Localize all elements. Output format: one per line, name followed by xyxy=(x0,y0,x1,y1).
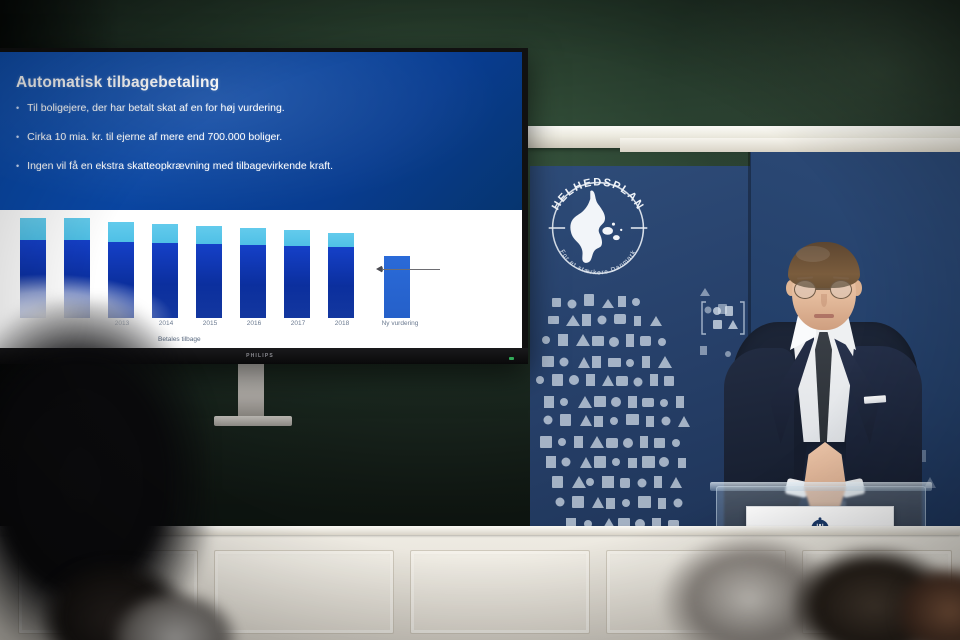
tv-stand-neck xyxy=(238,364,264,420)
chart-bar-segment-betalt xyxy=(240,245,266,318)
slide-bullet-item: • Cirka 10 mia. kr. til ejerne af mere e… xyxy=(16,131,496,144)
chart-bar-stack xyxy=(284,230,310,318)
bullet-text: Ingen vil få en ekstra skatteopkrævning … xyxy=(27,160,333,173)
wall-molding-secondary xyxy=(620,138,960,152)
slide-bullet-item: • Ingen vil få en ekstra skatteopkrævnin… xyxy=(16,160,496,173)
chart-x-label: Ny vurdering xyxy=(364,320,436,334)
lectern-top-edge xyxy=(710,482,932,491)
bullet-marker-icon: • xyxy=(16,102,19,115)
chart-bar-stack xyxy=(328,233,354,318)
chart-x-label: 2016 xyxy=(232,320,276,334)
chart-bar-segment-betalt xyxy=(284,246,310,318)
bullet-text: Til boligejere, der har betalt skat af e… xyxy=(27,102,285,115)
chart-bar-segment-tilbage xyxy=(20,218,46,240)
chart-bar-segment-tilbage xyxy=(152,224,178,243)
chart-bar xyxy=(276,218,320,318)
bullet-marker-icon: • xyxy=(16,160,19,173)
speaker-nose xyxy=(821,294,827,307)
audience-head xyxy=(896,566,960,640)
tv-stand-base xyxy=(214,416,292,426)
chart-x-label: 2017 xyxy=(276,320,320,334)
tv-brand-label: PHILIPS xyxy=(246,353,274,359)
press-conference-scene: HELHEDSPLAN For et stærkere Danmark xyxy=(0,0,960,640)
bullet-text: Cirka 10 mia. kr. til ejerne af mere end… xyxy=(27,131,282,144)
arrow-shaft xyxy=(382,269,440,270)
chart-bar-segment-tilbage xyxy=(284,230,310,246)
wainscot-panel xyxy=(410,550,590,634)
glasses-lens-left xyxy=(794,280,816,299)
slide-title: Automatisk tilbagebetaling xyxy=(16,74,219,92)
chart-x-label: 2018 xyxy=(320,320,364,334)
chart-bar-segment-betalt xyxy=(328,247,354,318)
tv-power-led-icon xyxy=(509,357,514,360)
speaker-mouth xyxy=(814,314,834,318)
glasses-lens-right xyxy=(830,280,852,299)
wainscot-panel xyxy=(214,550,394,634)
slide-bullet-item: • Til boligejere, der har betalt skat af… xyxy=(16,102,496,115)
bullet-marker-icon: • xyxy=(16,131,19,144)
chart-bar-segment-tilbage xyxy=(240,228,266,245)
glasses-bridge xyxy=(816,288,830,290)
chart-annotation-arrow xyxy=(376,265,440,273)
slide-bullet-list: • Til boligejere, der har betalt skat af… xyxy=(16,102,496,189)
chart-bar-segment-tilbage xyxy=(196,226,222,244)
denmark-map-emblem xyxy=(570,191,622,263)
audience-head xyxy=(110,588,240,640)
chart-bar xyxy=(320,218,364,318)
chart-bar-segment-tilbage xyxy=(108,222,134,242)
chart-bar xyxy=(232,218,276,318)
chart-bar-segment-tilbage xyxy=(64,218,90,240)
chart-bar-stack xyxy=(240,228,266,318)
chart-bar-segment-tilbage xyxy=(328,233,354,247)
